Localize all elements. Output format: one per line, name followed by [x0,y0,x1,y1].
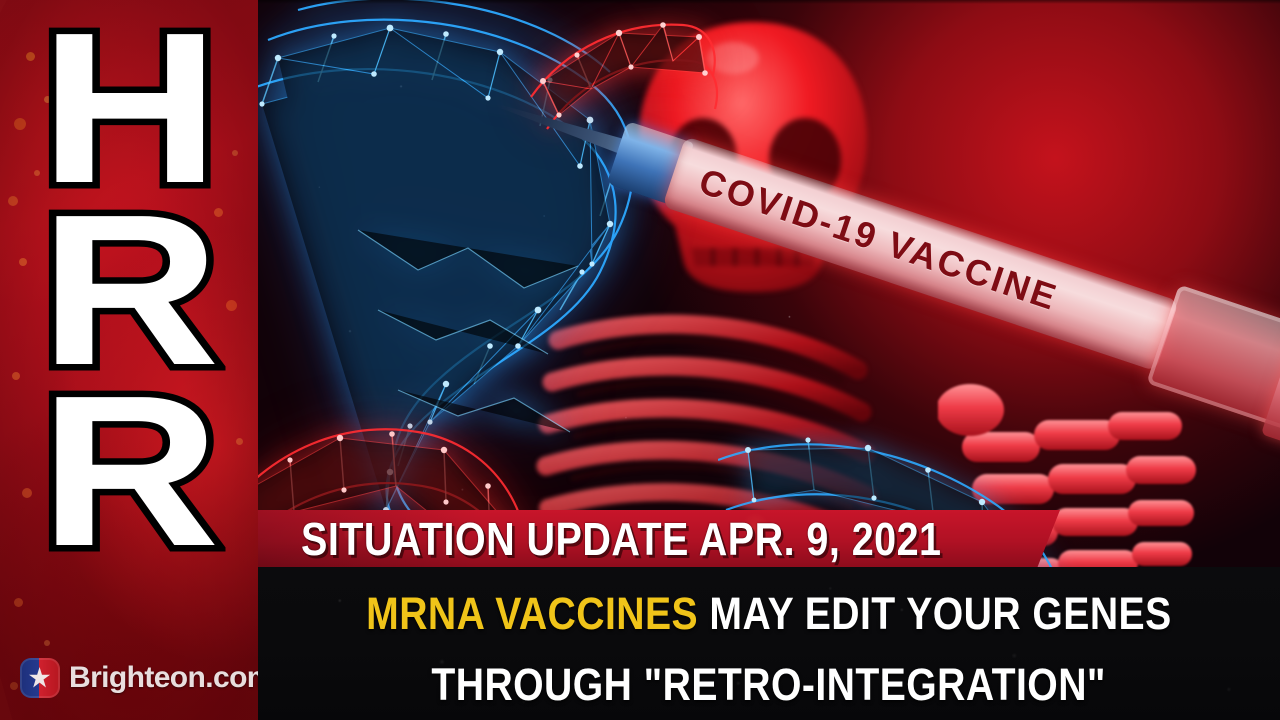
brand-letter-h: H [40,24,218,192]
brand-sidebar: H R R Brighteon.com [0,0,258,720]
headline-line-2-text: THROUGH "RETRO-INTEGRATION" [432,662,1107,707]
brand-letter-r2: R [40,387,218,555]
brighteon-logo[interactable]: Brighteon.com [20,658,258,698]
video-thumbnail: H R R Brighteon.com [0,0,1280,720]
brighteon-logo-text: Brighteon.com [69,661,258,695]
brand-letter-r1: R [40,206,218,374]
top-edge-shadow [258,0,1280,4]
headline-line-1-rest: MAY EDIT YOUR GENES [698,588,1172,639]
headline-accent-text: MRNA VACCINES [366,588,698,639]
headline-bar: MRNA VACCINES MAY EDIT YOUR GENES THROUG… [258,567,1280,720]
brand-letters: H R R [0,0,258,600]
play-triangle-shape [44,669,55,687]
headline-line-2: THROUGH "RETRO-INTEGRATION" [258,662,1280,707]
situation-update-banner: SITUATION UPDATE APR. 9, 2021 [258,510,1060,567]
brighteon-play-star-icon [20,658,60,698]
headline-line-1: MRNA VACCINES MAY EDIT YOUR GENES [258,591,1280,636]
banner-title-text: SITUATION UPDATE APR. 9, 2021 [301,512,941,566]
